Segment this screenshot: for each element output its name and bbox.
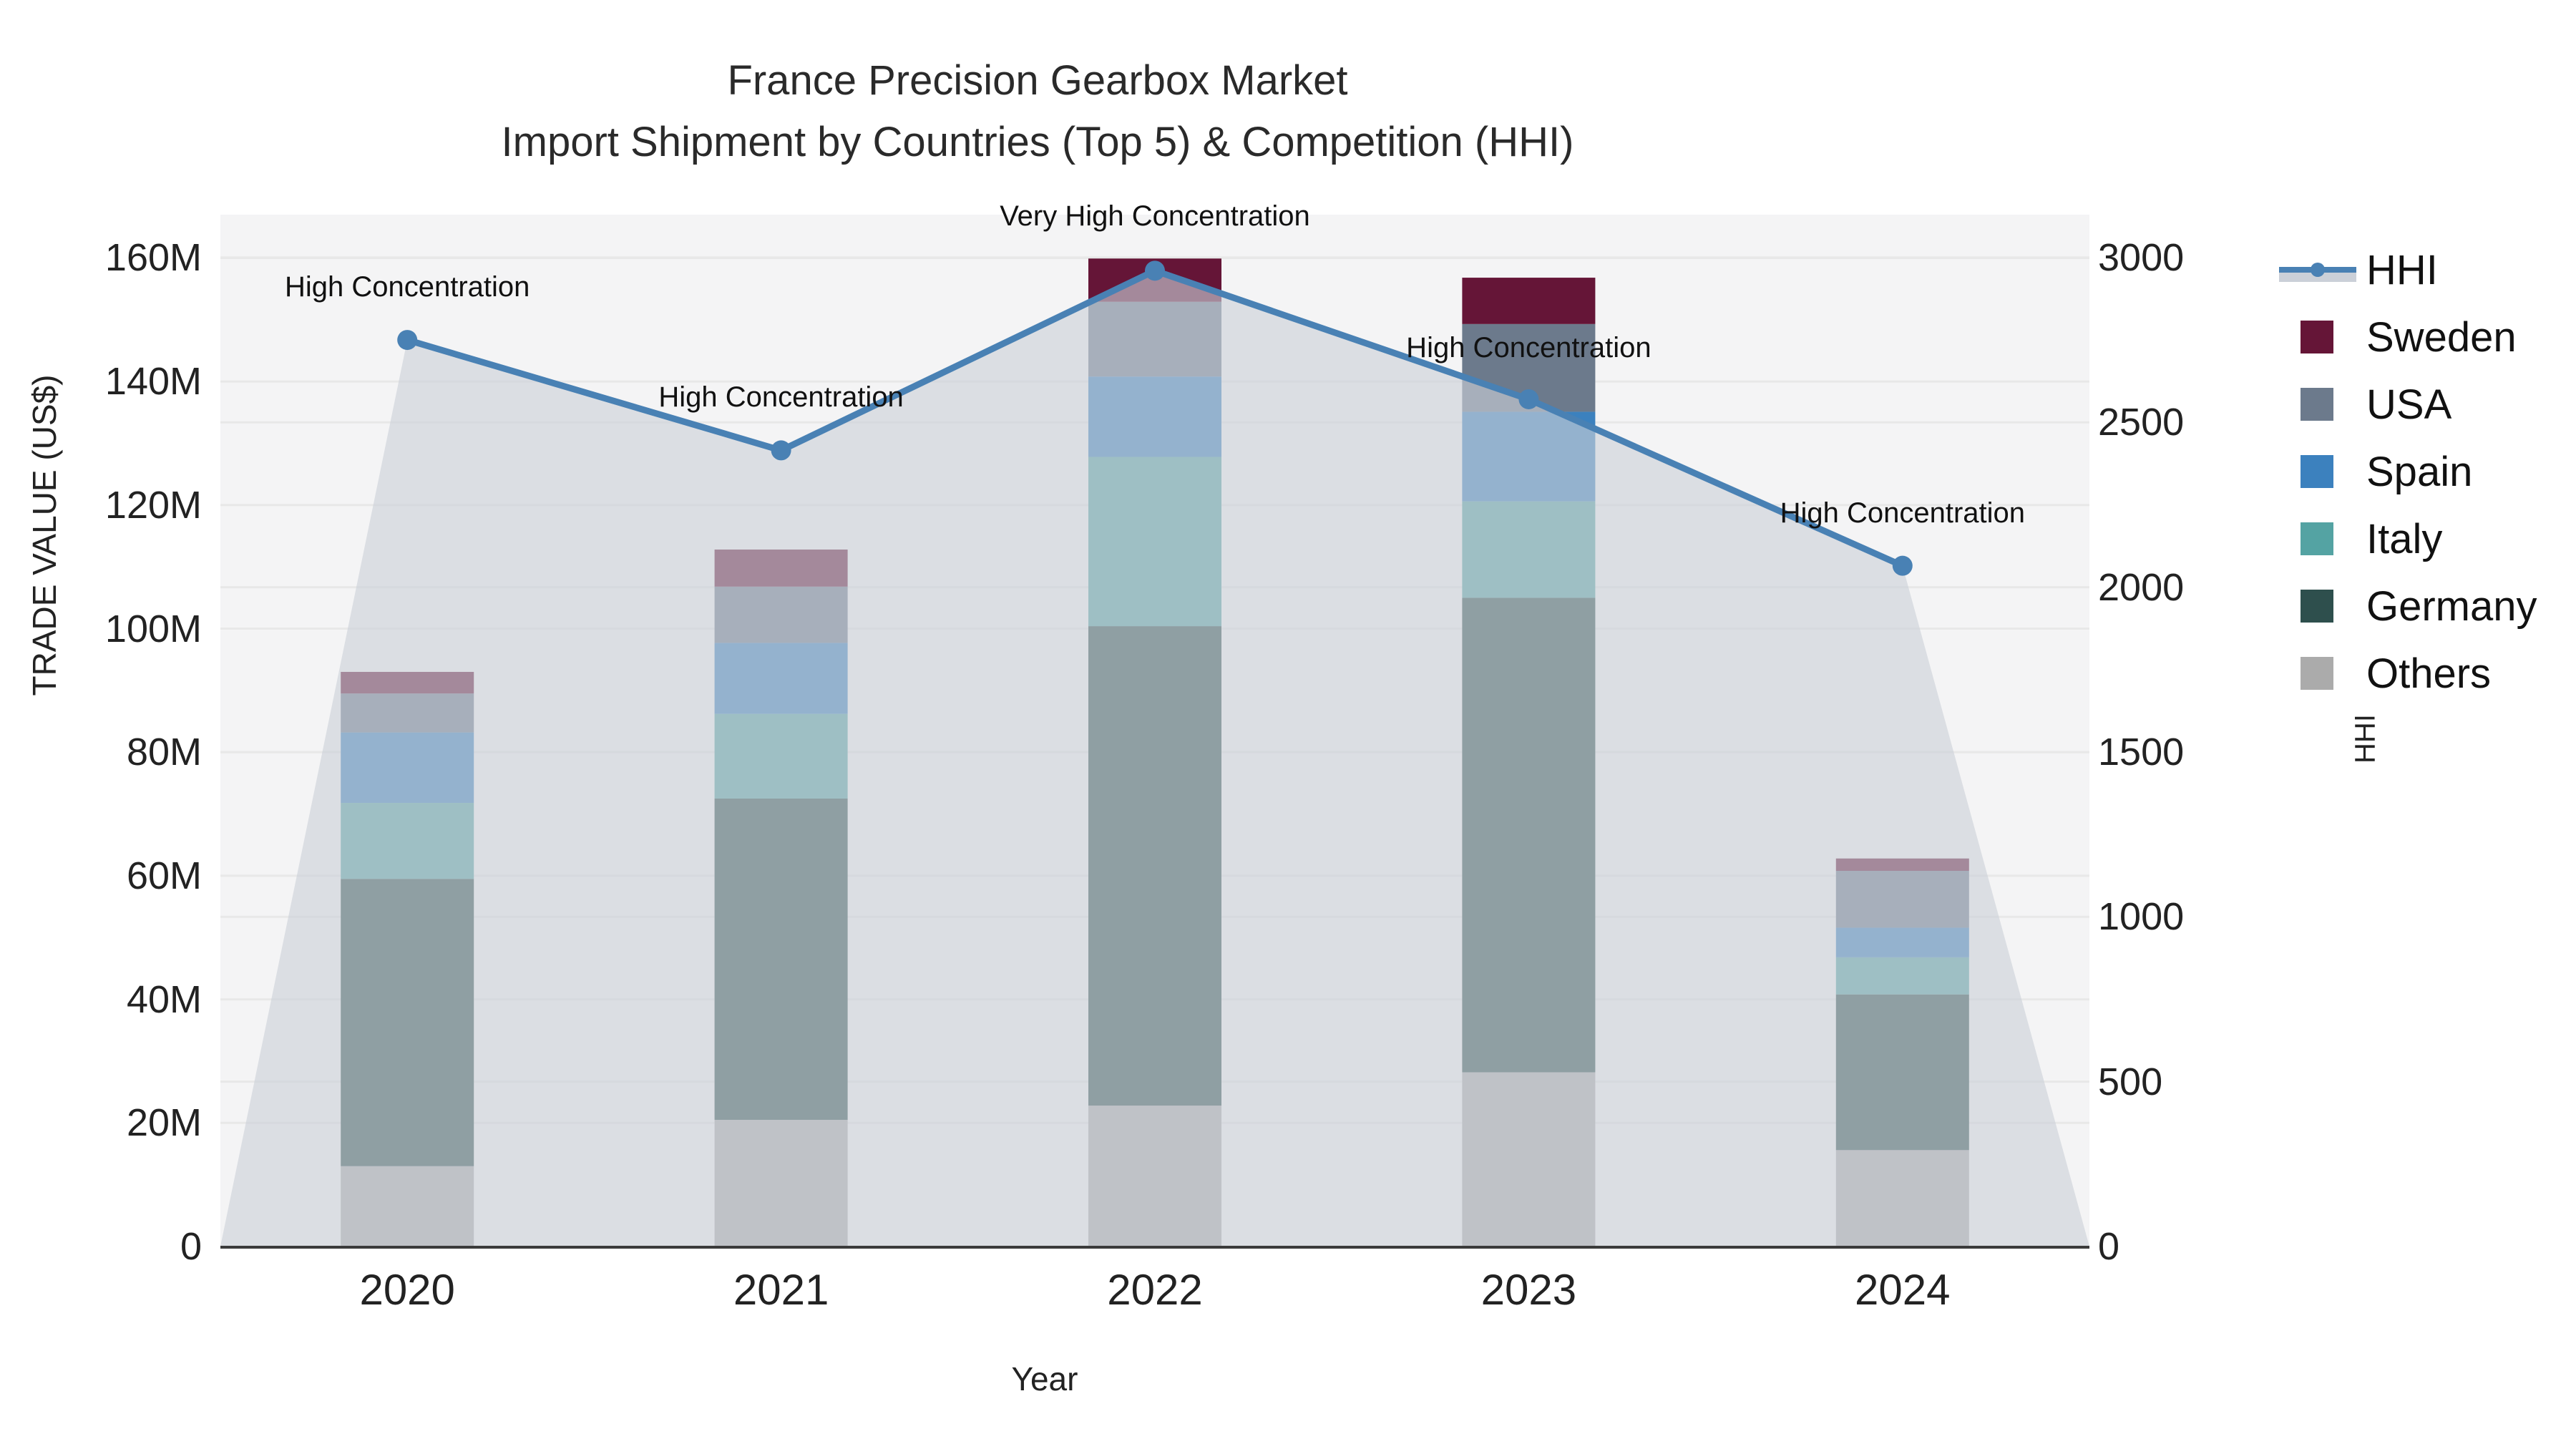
y-left-tick: 20M	[127, 1101, 202, 1145]
title-line-2: Import Shipment by Countries (Top 5) & C…	[0, 112, 2075, 173]
legend-item-italy[interactable]: Italy	[2279, 505, 2576, 572]
title-line-1: France Precision Gearbox Market	[0, 50, 2075, 112]
legend-label-usa: USA	[2366, 381, 2451, 429]
annotation-2024: High Concentration	[1780, 497, 2025, 530]
annotation-2021: High Concentration	[658, 381, 903, 414]
y-left-tick: 160M	[105, 235, 202, 280]
legend-item-sweden[interactable]: Sweden	[2279, 303, 2576, 371]
legend-label-sweden: Sweden	[2366, 313, 2517, 361]
legend-line-marker	[2279, 253, 2356, 286]
legend-item-others[interactable]: Others	[2279, 640, 2576, 707]
legend-item-hhi[interactable]: HHI	[2279, 236, 2576, 303]
x-axis-label: Year	[0, 1360, 2089, 1398]
y-left-tick: 0	[180, 1224, 202, 1269]
legend-swatch-italy	[2301, 522, 2333, 555]
chart-canvas: France Precision Gearbox Market Import S…	[0, 0, 2576, 1449]
legend-swatch-sweden	[2301, 321, 2333, 353]
y-axis-left-label: TRADE VALUE (US$)	[25, 263, 64, 807]
hhi-area-fill	[220, 270, 2089, 1246]
annotation-2023: High Concentration	[1406, 332, 1651, 364]
legend-swatch-others	[2301, 657, 2333, 690]
x-tick-2020: 2020	[359, 1265, 454, 1314]
y-right-tick: 0	[2098, 1224, 2119, 1269]
y-right-tick: 3000	[2098, 235, 2184, 280]
y-right-tick: 500	[2098, 1060, 2162, 1104]
chart-legend: HHISwedenUSASpainItalyGermanyOthers	[2279, 236, 2576, 707]
y-right-tick: 2500	[2098, 400, 2184, 444]
x-tick-2021: 2021	[733, 1265, 829, 1314]
x-tick-2023: 2023	[1481, 1265, 1576, 1314]
legend-item-spain[interactable]: Spain	[2279, 438, 2576, 505]
annotation-2022: Very High Concentration	[1000, 200, 1310, 233]
y-left-tick: 40M	[127, 977, 202, 1022]
hhi-point[interactable]	[1518, 389, 1538, 409]
legend-label-others: Others	[2366, 650, 2491, 698]
y-right-tick: 1500	[2098, 730, 2184, 774]
y-left-tick: 60M	[127, 854, 202, 898]
bar-segment-sweden	[1462, 278, 1595, 324]
y-right-tick: 2000	[2098, 565, 2184, 610]
x-axis-line	[220, 1246, 2089, 1249]
hhi-point[interactable]	[1893, 556, 1913, 576]
y-right-tick: 1000	[2098, 894, 2184, 939]
hhi-point[interactable]	[771, 440, 791, 460]
y-left-tick: 120M	[105, 483, 202, 527]
legend-swatch-spain	[2301, 455, 2333, 488]
x-tick-2024: 2024	[1855, 1265, 1950, 1314]
y-left-tick: 140M	[105, 359, 202, 404]
x-tick-2022: 2022	[1107, 1265, 1202, 1314]
legend-label-spain: Spain	[2366, 448, 2472, 496]
plot-svg	[220, 215, 2089, 1246]
legend-label-germany: Germany	[2366, 582, 2537, 630]
hhi-point[interactable]	[1145, 260, 1165, 280]
legend-item-germany[interactable]: Germany	[2279, 572, 2576, 640]
y-left-tick: 80M	[127, 730, 202, 774]
annotation-2020: High Concentration	[285, 271, 530, 303]
legend-item-usa[interactable]: USA	[2279, 371, 2576, 438]
y-left-tick: 100M	[105, 607, 202, 651]
legend-label-hhi: HHI	[2366, 246, 2438, 294]
plot-area	[220, 215, 2089, 1246]
legend-label-italy: Italy	[2366, 515, 2442, 563]
legend-swatch-germany	[2301, 590, 2333, 623]
legend-swatch-usa	[2301, 388, 2333, 421]
hhi-point[interactable]	[397, 330, 417, 350]
chart-title: France Precision Gearbox Market Import S…	[0, 50, 2075, 173]
